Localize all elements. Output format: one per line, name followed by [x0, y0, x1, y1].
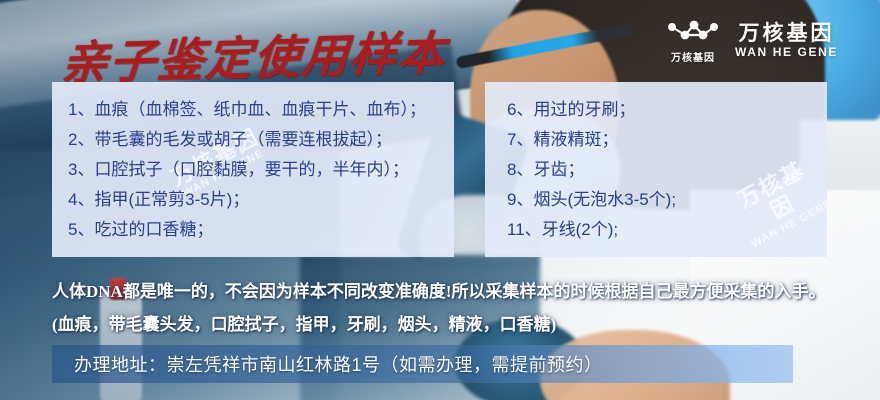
address-text: 办理地址：崇左凭祥市南山红林路1号（如需办理，需提前预约）: [52, 351, 603, 377]
brand-name-en: WAN HE GENE: [735, 46, 838, 59]
list-item: 3、口腔拭子（口腔黏膜，要干的，半年内）；: [68, 155, 454, 185]
list-item: 1、血痕（血棉签、纸巾血、血痕干片、血布）；: [68, 95, 454, 125]
sample-list-panel-left: 万核基因 WAN HE GENE 1、血痕（血棉签、纸巾血、血痕干片、血布）； …: [52, 82, 454, 257]
list-item: 5、吃过的口香糖；: [68, 215, 454, 245]
list-item: 7、精液精斑；: [507, 125, 827, 155]
sample-list-panel-right: 万核基因 WAN HE GENE 6、用过的牙刷； 7、精液精斑； 8、牙齿； …: [485, 82, 827, 257]
brand-logo: 万核基因 万核基因 WAN HE GENE: [665, 18, 838, 64]
list-item: 2、带毛囊的毛发或胡子（需要连根拔起）；: [68, 125, 454, 155]
sample-list-left: 1、血痕（血棉签、纸巾血、血痕干片、血布）； 2、带毛囊的毛发或胡子（需要连根拔…: [52, 82, 454, 245]
list-item: 9、烟头(无泡水3-5个);: [507, 185, 827, 215]
address-bar: 办理地址：崇左凭祥市南山红林路1号（如需办理，需提前预约）: [52, 345, 793, 383]
description-paragraph: 人体DNA都是唯一的，不会因为样本不同改变准确度!所以采集样本的时候根据自己最方…: [52, 275, 842, 341]
list-item: 11、牙线(2个);: [507, 215, 827, 245]
list-item: 4、指甲(正常剪3-5片)；: [68, 185, 454, 215]
list-item: 8、牙齿；: [507, 155, 827, 185]
logo-mark-label: 万核基因: [671, 49, 715, 64]
list-item: 6、用过的牙刷；: [507, 95, 827, 125]
brand-wordmark: 万核基因 WAN HE GENE: [735, 23, 838, 59]
dna-molecule-icon: 万核基因: [665, 18, 721, 64]
poster-root: 万核基因 万核基因 WAN HE GENE 亲子鉴定使用样本 万核基因 WAN …: [0, 0, 880, 400]
sample-list-right: 6、用过的牙刷； 7、精液精斑； 8、牙齿； 9、烟头(无泡水3-5个); 11…: [485, 82, 827, 245]
brand-name-cn: 万核基因: [738, 23, 834, 46]
